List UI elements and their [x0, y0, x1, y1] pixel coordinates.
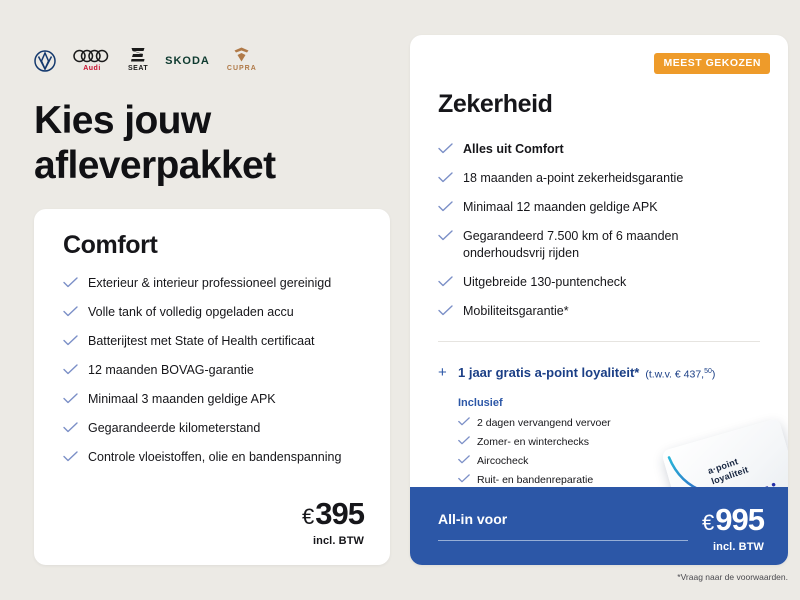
- zekerheid-package-card[interactable]: MEEST GEKOZEN Zekerheid Alles uit Comfor…: [410, 35, 788, 565]
- cupra-logo-caption: CUPRA: [227, 65, 257, 72]
- skoda-logo-caption: SKODA: [165, 55, 210, 67]
- loyalty-bonus-value-prefix: (t.w.v. € 437,: [645, 368, 704, 380]
- comfort-price-note: incl. BTW: [302, 535, 364, 547]
- check-icon: [438, 305, 453, 316]
- allin-price-bar: All-in voor €995 incl. BTW: [410, 487, 788, 565]
- list-item-label: Zomer- en winterchecks: [477, 435, 589, 449]
- list-item-label: Minimaal 12 maanden geldige APK: [463, 199, 658, 216]
- divider: [438, 341, 760, 342]
- list-item: Uitgebreide 130-puntencheck: [438, 274, 758, 291]
- comfort-price-amount: 395: [315, 496, 364, 531]
- comfort-package-card[interactable]: Comfort Exterieur & interieur profession…: [34, 209, 390, 565]
- seat-logo-caption: SEAT: [128, 65, 148, 72]
- loyalty-bonus-value-cents: 50: [704, 368, 712, 375]
- list-item-label: Gegarandeerd 7.500 km of 6 maanden onder…: [463, 228, 758, 262]
- comfort-card-title: Comfort: [63, 231, 157, 260]
- plus-icon: +: [438, 365, 458, 380]
- loyalty-bonus-row: + 1 jaar gratis a-point loyaliteit* (t.w…: [438, 365, 768, 380]
- check-icon: [438, 172, 453, 183]
- comfort-feature-list: Exterieur & interieur professioneel gere…: [63, 275, 368, 478]
- check-icon: [458, 474, 470, 483]
- loyalty-bonus-value: (t.w.v. € 437,50): [645, 368, 715, 381]
- check-icon: [438, 143, 453, 154]
- list-item-label: 12 maanden BOVAG-garantie: [88, 362, 254, 379]
- zekerheid-price-block: €995 incl. BTW: [702, 503, 764, 553]
- check-icon: [63, 335, 78, 346]
- loyalty-bonus-label: 1 jaar gratis a-point loyaliteit*: [458, 365, 639, 380]
- list-item-label: Aircocheck: [477, 454, 528, 468]
- audi-logo: Audi: [73, 49, 111, 72]
- comfort-price: €395: [302, 497, 364, 533]
- list-item-label: Gegarandeerde kilometerstand: [88, 420, 260, 437]
- list-item-label: Batterijtest met State of Health certifi…: [88, 333, 315, 350]
- list-item: Minimaal 12 maanden geldige APK: [438, 199, 758, 216]
- loyalty-bonus-value-suffix: ): [712, 368, 716, 380]
- list-item: 12 maanden BOVAG-garantie: [63, 362, 368, 379]
- check-icon: [63, 451, 78, 462]
- list-item-label: 2 dagen vervangend vervoer: [477, 416, 611, 430]
- list-item-label: Controle vloeistoffen, olie en bandenspa…: [88, 449, 341, 466]
- list-item: Gegarandeerd 7.500 km of 6 maanden onder…: [438, 228, 758, 262]
- list-item: Volle tank of volledig opgeladen accu: [63, 304, 368, 321]
- page-title: Kies jouw afleverpakket: [34, 98, 374, 188]
- check-icon: [458, 436, 470, 445]
- list-item: Mobiliteitsgarantie*: [438, 303, 758, 320]
- zekerheid-price: €995: [702, 503, 764, 539]
- allin-rule: [438, 540, 688, 541]
- check-icon: [63, 277, 78, 288]
- list-item: 2 dagen vervangend vervoer: [458, 416, 718, 430]
- check-icon: [63, 393, 78, 404]
- check-icon: [458, 417, 470, 426]
- volkswagen-logo: [34, 50, 56, 72]
- page-title-line2: afleverpakket: [34, 143, 374, 188]
- list-item: Alles uit Comfort: [438, 141, 758, 158]
- status-badge: MEEST GEKOZEN: [654, 53, 770, 74]
- check-icon: [63, 422, 78, 433]
- comfort-price-block: €395 incl. BTW: [302, 497, 364, 547]
- inclusief-title: Inclusief: [458, 397, 718, 409]
- list-item-label: Uitgebreide 130-puntencheck: [463, 274, 626, 291]
- audi-logo-caption: Audi: [83, 65, 101, 72]
- check-icon: [438, 201, 453, 212]
- allin-label: All-in voor: [438, 511, 507, 527]
- check-icon: [438, 230, 453, 241]
- currency-symbol: €: [702, 510, 714, 535]
- page-title-line1: Kies jouw: [34, 98, 374, 143]
- list-item: Minimaal 3 maanden geldige APK: [63, 391, 368, 408]
- list-item: Batterijtest met State of Health certifi…: [63, 333, 368, 350]
- check-icon: [438, 276, 453, 287]
- list-item: Gegarandeerde kilometerstand: [63, 420, 368, 437]
- list-item-label: Volle tank of volledig opgeladen accu: [88, 304, 294, 321]
- list-item-label: Exterieur & interieur professioneel gere…: [88, 275, 331, 292]
- zekerheid-price-note: incl. BTW: [702, 541, 764, 553]
- zekerheid-card-title: Zekerheid: [438, 90, 553, 119]
- list-item-label: Alles uit Comfort: [463, 141, 564, 158]
- zekerheid-feature-list: Alles uit Comfort 18 maanden a-point zek…: [438, 141, 758, 332]
- list-item-label: Minimaal 3 maanden geldige APK: [88, 391, 276, 408]
- list-item-label: Mobiliteitsgarantie*: [463, 303, 569, 320]
- list-item: Exterieur & interieur professioneel gere…: [63, 275, 368, 292]
- list-item-label: Ruit- en bandenreparatie: [477, 473, 593, 487]
- list-item: Controle vloeistoffen, olie en bandenspa…: [63, 449, 368, 466]
- check-icon: [63, 364, 78, 375]
- left-column: Audi SEAT SKODA CUPRA Kies jouw afleverp…: [0, 0, 408, 600]
- brand-logo-strip: Audi SEAT SKODA CUPRA: [34, 38, 257, 72]
- seat-logo: SEAT: [128, 46, 148, 72]
- check-icon: [458, 455, 470, 464]
- check-icon: [63, 306, 78, 317]
- list-item-label: 18 maanden a-point zekerheidsgarantie: [463, 170, 683, 187]
- cupra-logo: CUPRA: [227, 46, 257, 72]
- list-item: 18 maanden a-point zekerheidsgarantie: [438, 170, 758, 187]
- skoda-logo: SKODA: [165, 55, 210, 72]
- currency-symbol: €: [302, 504, 314, 529]
- zekerheid-price-amount: 995: [715, 502, 764, 537]
- footnote: *Vraag naar de voorwaarden.: [677, 572, 788, 582]
